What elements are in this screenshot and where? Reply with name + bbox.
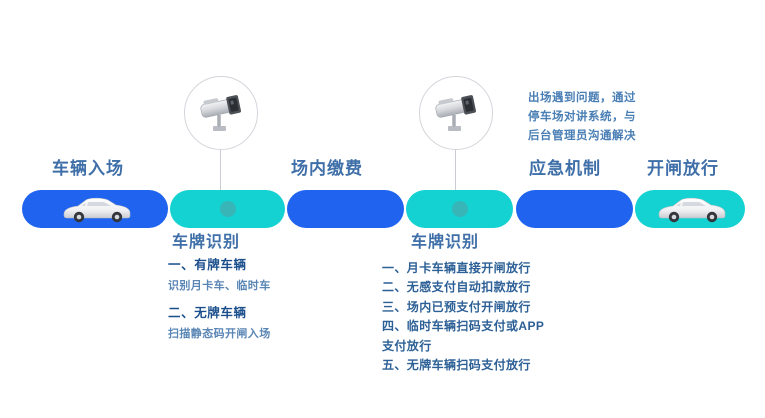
cctv-camera-icon: [195, 93, 247, 133]
spacer: [168, 293, 271, 306]
infographic-canvas: 车辆入场 场内缴费 应急机制 开闸放行: [0, 0, 765, 418]
node-dot-icon: [220, 201, 236, 217]
timeline-segment-emergency[interactable]: [516, 190, 633, 228]
timeline-label-emergency: 应急机制: [529, 154, 601, 179]
entry-details-block: 一、有牌车辆 识别月卡车、临时车 二、无牌车辆 扫描静态码开闸入场: [168, 258, 271, 341]
timeline-label-payment: 场内缴费: [291, 154, 363, 179]
emergency-note-line: 出场遇到问题，通过: [528, 89, 636, 108]
car-icon: [655, 194, 729, 224]
exit-detail-item: 一、月卡车辆直接开闸放行: [382, 259, 544, 278]
node-dot-icon: [452, 201, 468, 217]
camera-exit-node[interactable]: [419, 76, 493, 150]
exit-detail-item: 三、场内已预支付开闸放行: [382, 298, 544, 317]
exit-detail-item: 五、无牌车辆扫码支付放行: [382, 356, 544, 375]
entry-detail-sub: 识别月卡车、临时车: [168, 280, 271, 293]
timeline-segment-entry[interactable]: [22, 190, 168, 228]
timeline-segment-plate-2[interactable]: [406, 190, 513, 228]
emergency-note: 出场遇到问题，通过 停车场对讲系统，与 后台管理员沟通解决: [528, 89, 636, 146]
timeline-label-entry: 车辆入场: [52, 154, 124, 179]
emergency-note-line: 停车场对讲系统，与: [528, 108, 636, 127]
timeline-segment-plate-1[interactable]: [170, 190, 285, 228]
timeline-label-plate-2: 车牌识别: [411, 228, 479, 252]
entry-detail-heading: 一、有牌车辆: [168, 258, 271, 273]
entry-detail-sub: 扫描静态码开闸入场: [168, 328, 271, 341]
entry-detail-heading: 二、无牌车辆: [168, 306, 271, 321]
timeline-segment-exit[interactable]: [635, 190, 745, 228]
camera-entry-stem: [220, 150, 221, 195]
exit-detail-item: 四、临时车辆扫码支付或APP: [382, 317, 544, 336]
car-icon: [60, 194, 134, 224]
timeline-label-exit: 开闸放行: [647, 154, 719, 179]
emergency-note-line: 后台管理员沟通解决: [528, 127, 636, 146]
cctv-camera-icon: [430, 93, 482, 133]
camera-entry-node[interactable]: [184, 76, 258, 150]
timeline-label-plate-1: 车牌识别: [172, 228, 240, 252]
exit-details-block: 一、月卡车辆直接开闸放行 二、无感支付自动扣款放行 三、场内已预支付开闸放行 四…: [382, 259, 544, 376]
exit-detail-item: 二、无感支付自动扣款放行: [382, 278, 544, 297]
camera-exit-stem: [455, 150, 456, 195]
timeline-segment-payment[interactable]: [287, 190, 404, 228]
exit-detail-item: 支付放行: [382, 337, 544, 356]
